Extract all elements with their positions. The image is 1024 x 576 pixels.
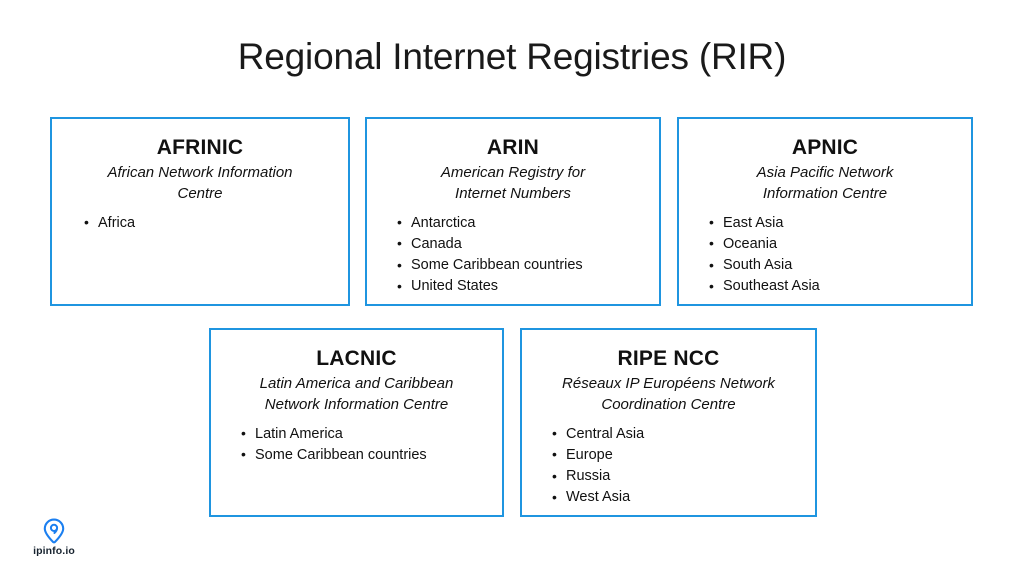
list-item: West Asia — [552, 487, 803, 508]
list-item: Latin America — [241, 424, 490, 445]
region-list: Antarctica Canada Some Caribbean countri… — [379, 213, 647, 298]
card-title: LACNIC — [223, 346, 490, 371]
card-title: RIPE NCC — [534, 346, 803, 371]
card-subtitle: Latin America and Caribbean Network Info… — [223, 373, 490, 416]
list-item: Africa — [84, 213, 336, 234]
card-subtitle-line-1: African Network Information — [107, 164, 292, 181]
list-item: Central Asia — [552, 424, 803, 445]
region-list: Africa — [64, 213, 336, 234]
card-subtitle-line-2: Network Information Centre — [265, 396, 448, 413]
card-lacnic: LACNIC Latin America and Caribbean Netwo… — [209, 328, 504, 517]
card-subtitle-line-1: American Registry for — [441, 164, 585, 181]
card-title: APNIC — [691, 135, 959, 160]
card-subtitle: Réseaux IP Européens Network Coordinatio… — [534, 373, 803, 416]
card-title: ARIN — [379, 135, 647, 160]
list-item: Oceania — [709, 234, 959, 255]
list-item: Southeast Asia — [709, 276, 959, 297]
list-item: Antarctica — [397, 213, 647, 234]
card-subtitle: African Network Information Centre — [64, 162, 336, 205]
map-pin-icon — [42, 518, 66, 544]
card-arin: ARIN American Registry for Internet Numb… — [365, 117, 661, 306]
slide-canvas: Regional Internet Registries (RIR) AFRIN… — [0, 0, 1024, 576]
card-subtitle-line-2: Information Centre — [763, 185, 887, 202]
region-list: Latin America Some Caribbean countries — [223, 424, 490, 466]
card-afrinic: AFRINIC African Network Information Cent… — [50, 117, 350, 306]
region-list: East Asia Oceania South Asia Southeast A… — [691, 213, 959, 298]
page-title: Regional Internet Registries (RIR) — [0, 36, 1024, 79]
card-subtitle-line-2: Internet Numbers — [455, 185, 571, 202]
card-subtitle-line-2: Centre — [177, 185, 222, 202]
list-item: East Asia — [709, 213, 959, 234]
brand-logo-text: ipinfo.io — [28, 545, 80, 557]
card-subtitle-line-1: Réseaux IP Européens Network — [562, 375, 775, 392]
list-item: Some Caribbean countries — [241, 445, 490, 466]
list-item: United States — [397, 276, 647, 297]
list-item: South Asia — [709, 255, 959, 276]
list-item: Russia — [552, 466, 803, 487]
card-title: AFRINIC — [64, 135, 336, 160]
region-list: Central Asia Europe Russia West Asia — [534, 424, 803, 509]
brand-logo: ipinfo.io — [28, 518, 80, 557]
card-subtitle: Asia Pacific Network Information Centre — [691, 162, 959, 205]
list-item: Some Caribbean countries — [397, 255, 647, 276]
list-item: Canada — [397, 234, 647, 255]
card-ripe-ncc: RIPE NCC Réseaux IP Européens Network Co… — [520, 328, 817, 517]
card-apnic: APNIC Asia Pacific Network Information C… — [677, 117, 973, 306]
card-subtitle-line-1: Asia Pacific Network — [757, 164, 894, 181]
card-subtitle-line-2: Coordination Centre — [601, 396, 735, 413]
list-item: Europe — [552, 445, 803, 466]
card-subtitle-line-1: Latin America and Caribbean — [260, 375, 454, 392]
card-subtitle: American Registry for Internet Numbers — [379, 162, 647, 205]
